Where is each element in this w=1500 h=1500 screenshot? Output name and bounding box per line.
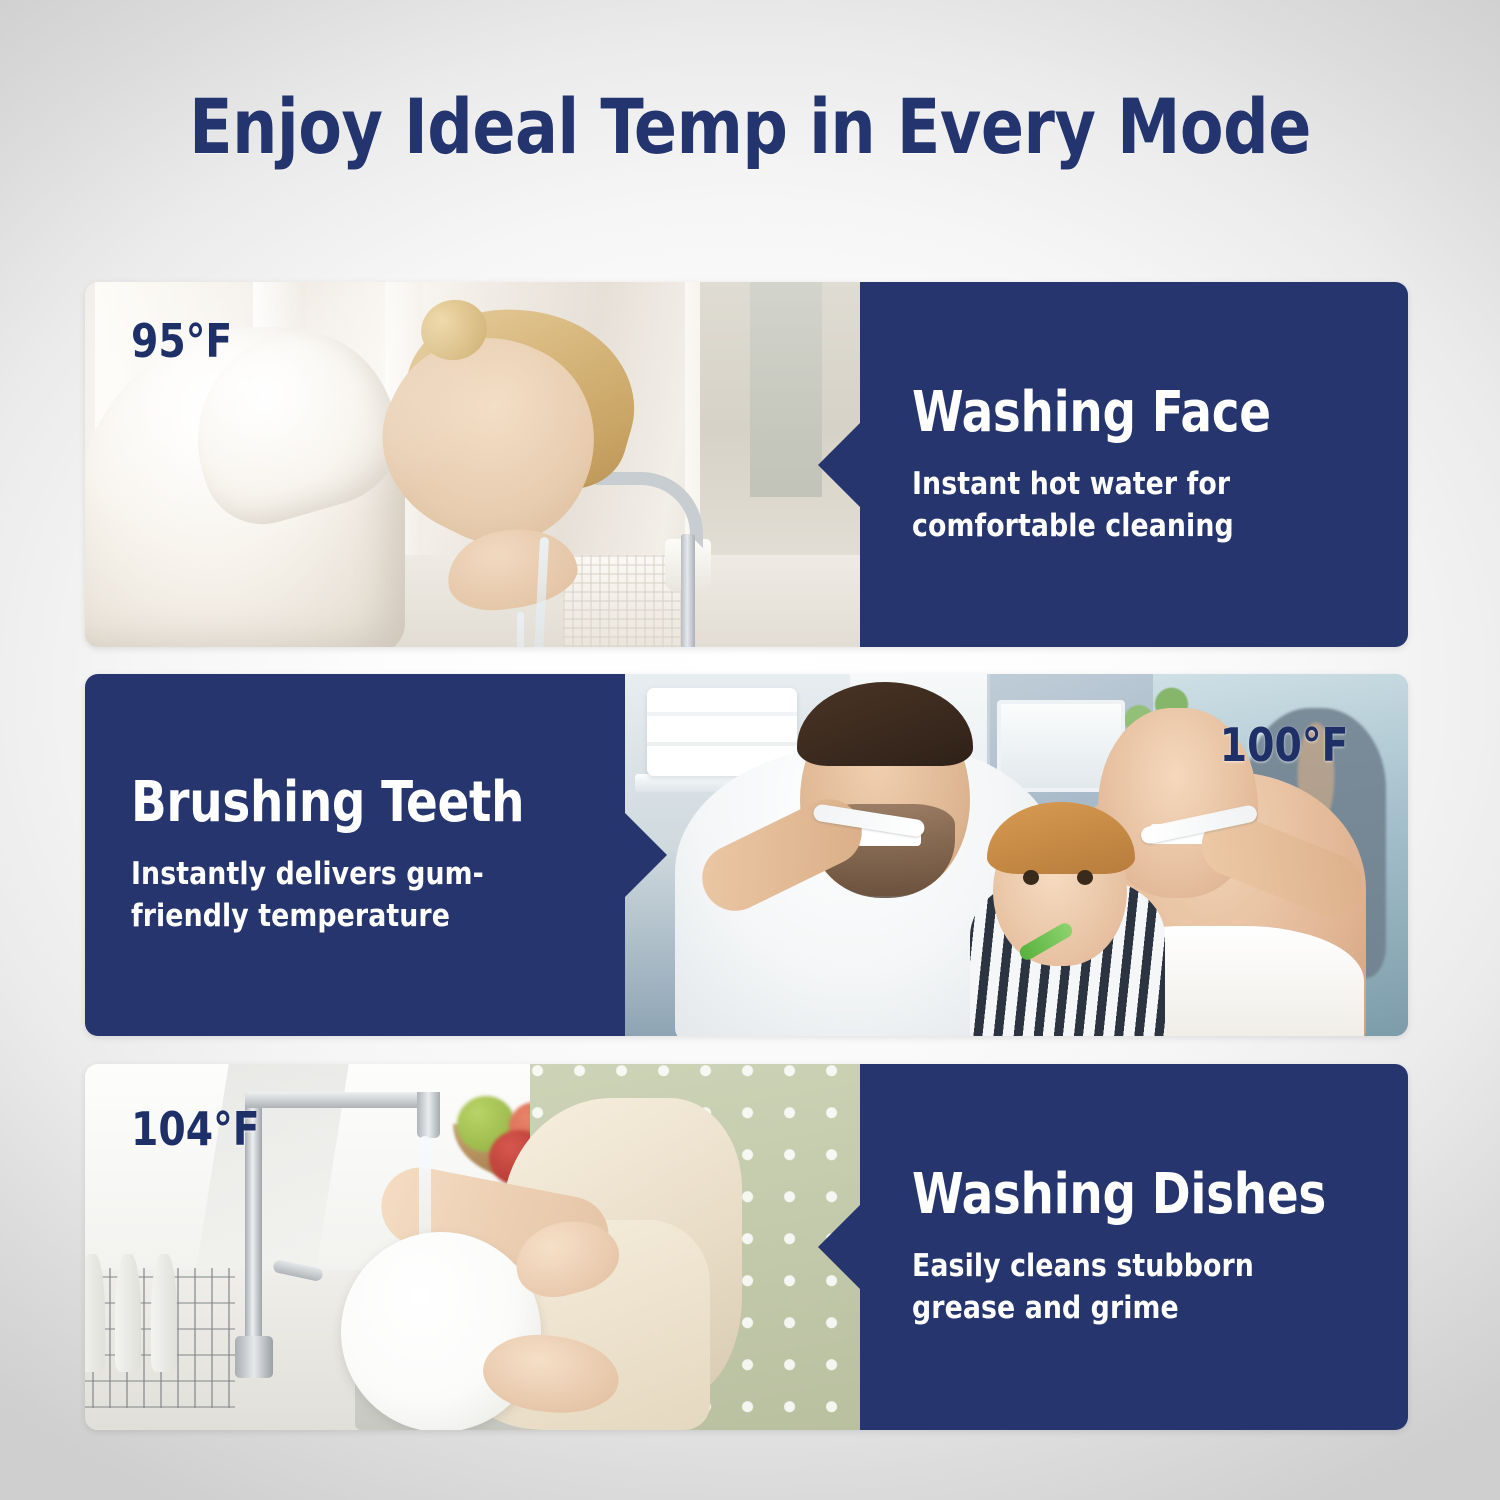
card-title-brushing-teeth: Brushing Teeth bbox=[131, 773, 535, 833]
temperature-badge-100f: 100°F bbox=[1219, 722, 1348, 768]
arrow-left-icon bbox=[818, 1205, 860, 1289]
feature-card-washing-dishes: 104°F Washing Dishes Easily cleans stubb… bbox=[85, 1064, 1408, 1430]
photo-washing-dishes: 104°F bbox=[85, 1064, 860, 1430]
card-title-washing-face: Washing Face bbox=[912, 383, 1317, 443]
card-description-brushing-teeth: Instantly delivers gum-friendly temperat… bbox=[131, 853, 548, 937]
temperature-badge-95f: 95°F bbox=[131, 318, 232, 364]
temperature-badge-104f: 104°F bbox=[131, 1106, 260, 1152]
card-title-washing-dishes: Washing Dishes bbox=[912, 1165, 1326, 1225]
feature-card-washing-face: 95°F Washing Face Instant hot water for … bbox=[85, 282, 1408, 647]
info-panel-brushing-teeth: Brushing Teeth Instantly delivers gum-fr… bbox=[85, 674, 625, 1036]
arrow-right-icon bbox=[625, 813, 667, 897]
feature-card-brushing-teeth: Brushing Teeth Instantly delivers gum-fr… bbox=[85, 674, 1408, 1036]
info-panel-washing-face: Washing Face Instant hot water for comfo… bbox=[860, 282, 1408, 647]
card-description-washing-dishes: Easily cleans stubborn grease and grime bbox=[912, 1245, 1339, 1329]
card-description-washing-face: Instant hot water for comfortable cleani… bbox=[912, 463, 1331, 547]
page-header: Enjoy Ideal Temp in Every Mode bbox=[0, 84, 1500, 170]
arrow-left-icon bbox=[818, 423, 860, 507]
page-title: Enjoy Ideal Temp in Every Mode bbox=[53, 84, 1448, 170]
photo-brushing-teeth: 100°F bbox=[625, 674, 1408, 1036]
info-panel-washing-dishes: Washing Dishes Easily cleans stubborn gr… bbox=[860, 1064, 1408, 1430]
photo-washing-face: 95°F bbox=[85, 282, 860, 647]
